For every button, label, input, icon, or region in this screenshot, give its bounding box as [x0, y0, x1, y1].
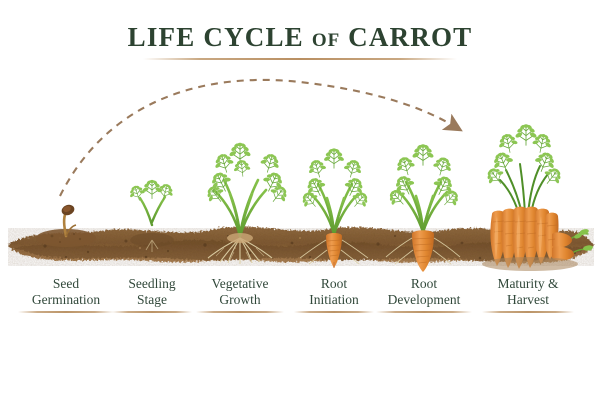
stage-label-maturity-harvest: Maturity & Harvest — [470, 276, 586, 308]
stage-label-vegetative-growth: Vegetative Growth — [184, 276, 296, 308]
stage-label-root-development: Root Development — [364, 276, 484, 308]
stage-label-underline — [196, 311, 284, 313]
infographic-canvas: LIFE CYCLE OF CARROT — [0, 0, 600, 400]
stage-label-line1: Root — [364, 276, 484, 292]
stage-label-underline — [18, 311, 114, 313]
stage-label-line1: Vegetative — [184, 276, 296, 292]
stage-label-line2: Growth — [184, 292, 296, 308]
stage-label-underline — [294, 311, 374, 313]
stage-labels: Seed Germination Seedling Stage Vegetati… — [0, 0, 600, 400]
stage-label-underline — [376, 311, 472, 313]
stage-label-line2: Development — [364, 292, 484, 308]
stage-label-line2: Harvest — [470, 292, 586, 308]
stage-label-line1: Maturity & — [470, 276, 586, 292]
stage-label-underline — [482, 311, 574, 313]
stage-label-underline — [112, 311, 192, 313]
